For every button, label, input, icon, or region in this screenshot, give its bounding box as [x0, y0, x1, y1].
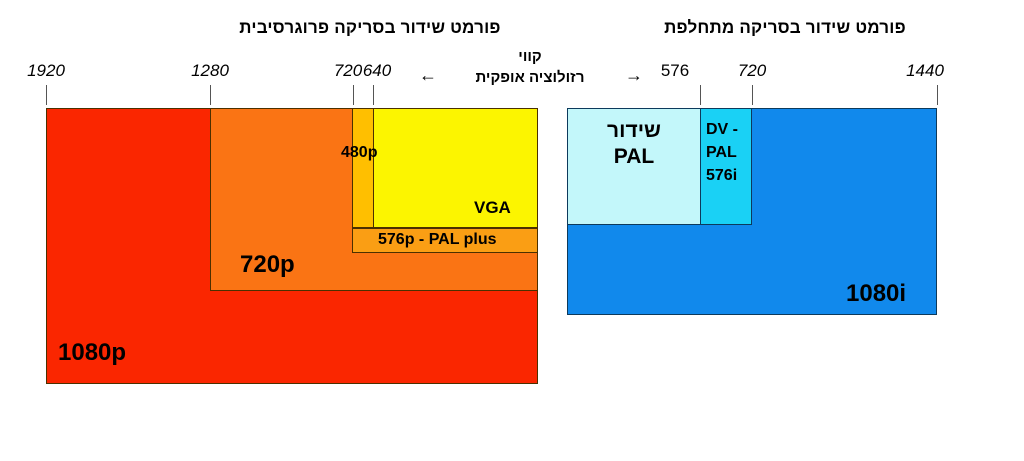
- label-pal-line1: שידור: [567, 118, 701, 144]
- label-480p: 480p: [341, 145, 377, 162]
- label-720p: 720p: [240, 252, 295, 277]
- tick-label-1280: 1280: [180, 61, 240, 81]
- tick-mark-1920: [46, 85, 47, 105]
- label-576p-pal-plus: 576p - PAL plus: [378, 232, 497, 249]
- title-interlaced-formats: פורמט שידור בסריקה מתחלפת: [600, 18, 970, 38]
- label-1080i: 1080i: [846, 281, 906, 306]
- label-1080p: 1080p: [58, 340, 126, 365]
- label-dvpal-line2: PAL: [706, 141, 770, 164]
- arrow-left-icon: ←: [419, 66, 437, 84]
- label-dv-pal-576i: DV - PAL 576i: [706, 118, 770, 187]
- tick-label-576: 576: [645, 61, 705, 81]
- tick-label-640: 640: [347, 61, 407, 81]
- axis-caption-line1: קווי: [430, 46, 630, 67]
- tick-label-1920: 1920: [16, 61, 76, 81]
- tick-mark-576: [700, 85, 701, 105]
- label-vga: VGA: [474, 199, 511, 217]
- tick-mark-720-progressive: [353, 85, 354, 105]
- title-progressive-formats: פורמט שידור בסריקה פרוגרסיבית: [150, 18, 590, 38]
- axis-caption: קווי רזולוציה אופקית: [430, 46, 630, 88]
- box-vga: [373, 108, 538, 228]
- box-480p: [352, 108, 374, 228]
- tick-mark-640: [373, 85, 374, 105]
- arrow-right-icon: →: [625, 66, 643, 84]
- tick-mark-1280: [210, 85, 211, 105]
- tick-label-720-interlaced: 720: [722, 61, 782, 81]
- label-pal-broadcast: שידור PAL: [567, 118, 701, 170]
- tick-mark-1440: [937, 85, 938, 105]
- diagram-canvas: פורמט שידור בסריקה פרוגרסיבית פורמט שידו…: [0, 0, 1024, 461]
- axis-caption-line2: רזולוציה אופקית: [430, 67, 630, 88]
- tick-label-1440: 1440: [895, 61, 955, 81]
- tick-mark-720-interlaced: [752, 85, 753, 105]
- label-dvpal-line3: 576i: [706, 164, 770, 187]
- label-dvpal-line1: DV -: [706, 118, 770, 141]
- label-pal-line2: PAL: [567, 144, 701, 170]
